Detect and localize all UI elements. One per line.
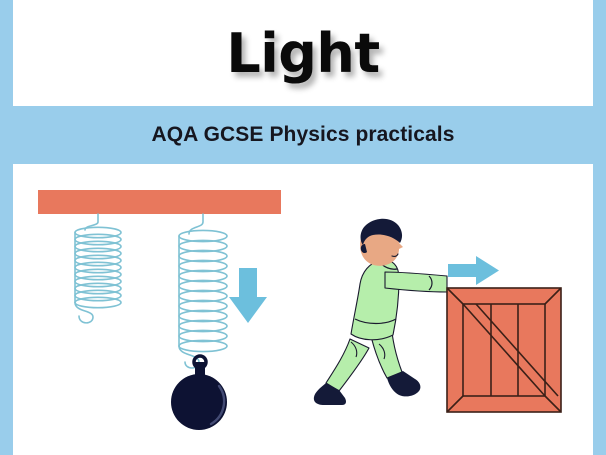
hanging-mass-icon xyxy=(171,356,227,430)
subtitle-text: AQA GCSE Physics practicals xyxy=(151,123,454,147)
spring-unloaded-icon xyxy=(75,214,121,323)
person-pushing-icon xyxy=(314,219,447,405)
crate-icon xyxy=(447,288,561,412)
slide-root: Light AQA GCSE Physics practicals xyxy=(0,0,606,455)
title-panel: Light xyxy=(13,0,593,106)
arrow-down-icon xyxy=(229,268,267,323)
physics-illustration xyxy=(13,164,593,455)
arrow-right-icon xyxy=(448,256,499,285)
support-bar-icon xyxy=(38,190,281,214)
subtitle-band: AQA GCSE Physics practicals xyxy=(0,106,606,164)
page-title: Light xyxy=(226,27,379,81)
spring-loaded-icon xyxy=(179,214,227,368)
illustration-panel xyxy=(13,164,593,455)
